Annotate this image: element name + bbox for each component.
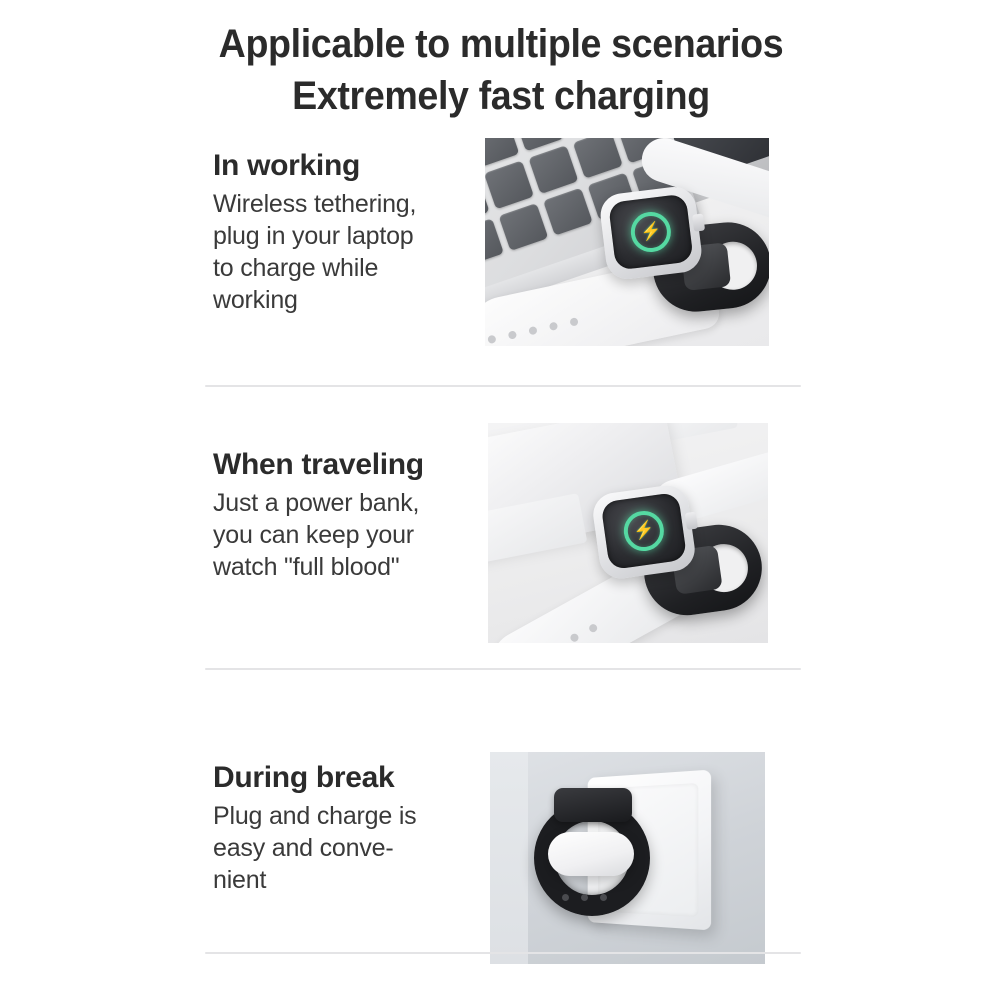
watch-crown <box>692 214 705 232</box>
scenario-description: Just a power bank, you can keep your wat… <box>213 487 485 583</box>
scenario-title: In working <box>213 148 485 184</box>
apple-watch-silver: ⚡ <box>590 483 697 582</box>
scenario-photo-wrap <box>490 752 765 964</box>
scenario-section-during-break: During break Plug and charge is easy and… <box>0 708 1002 993</box>
apple-watch-black <box>554 788 632 822</box>
watch-screen: ⚡ <box>608 194 694 271</box>
scenario-photo-wrap: ⚡ <box>488 423 768 643</box>
scenario-description: Plug and charge is easy and conve- nient <box>213 800 485 896</box>
charging-ring-icon: ⚡ <box>621 508 666 553</box>
header-title-line-1: Applicable to multiple scenarios <box>30 18 972 70</box>
scenario-description: Wireless tethering, plug in your laptop … <box>213 188 485 316</box>
white-charger-puck <box>548 832 634 876</box>
scenario-text-column: During break Plug and charge is easy and… <box>213 708 485 896</box>
strap-holes <box>513 623 599 643</box>
scenario-photo-wrap: ⚡ <box>485 138 769 346</box>
strap-holes <box>487 317 579 344</box>
watch-screen: ⚡ <box>601 492 688 570</box>
scenario-section-in-working: In working Wireless tethering, plug in y… <box>0 138 1002 423</box>
scenario-title: When traveling <box>213 447 485 483</box>
wall-light-band <box>490 752 528 964</box>
photo-powerbank-charging: ⚡ <box>488 423 768 643</box>
band-holes <box>562 894 607 901</box>
scenario-text-column: In working Wireless tethering, plug in y… <box>213 138 485 316</box>
scenario-title: During break <box>213 760 485 796</box>
page-header: Applicable to multiple scenarios Extreme… <box>0 0 1002 122</box>
scenario-text-column: When traveling Just a power bank, you ca… <box>213 423 485 583</box>
section-divider <box>205 385 801 387</box>
charging-ring-icon: ⚡ <box>629 210 674 255</box>
header-title-line-2: Extremely fast charging <box>30 70 972 122</box>
scenario-sections: In working Wireless tethering, plug in y… <box>0 138 1002 993</box>
photo-laptop-charging: ⚡ <box>485 138 769 346</box>
section-divider <box>205 668 801 670</box>
section-divider <box>205 952 801 954</box>
apple-watch-silver: ⚡ <box>598 184 704 281</box>
photo-wall-socket-charging <box>490 752 765 964</box>
watch-crown <box>685 512 698 530</box>
scenario-section-when-traveling: When traveling Just a power bank, you ca… <box>0 423 1002 708</box>
